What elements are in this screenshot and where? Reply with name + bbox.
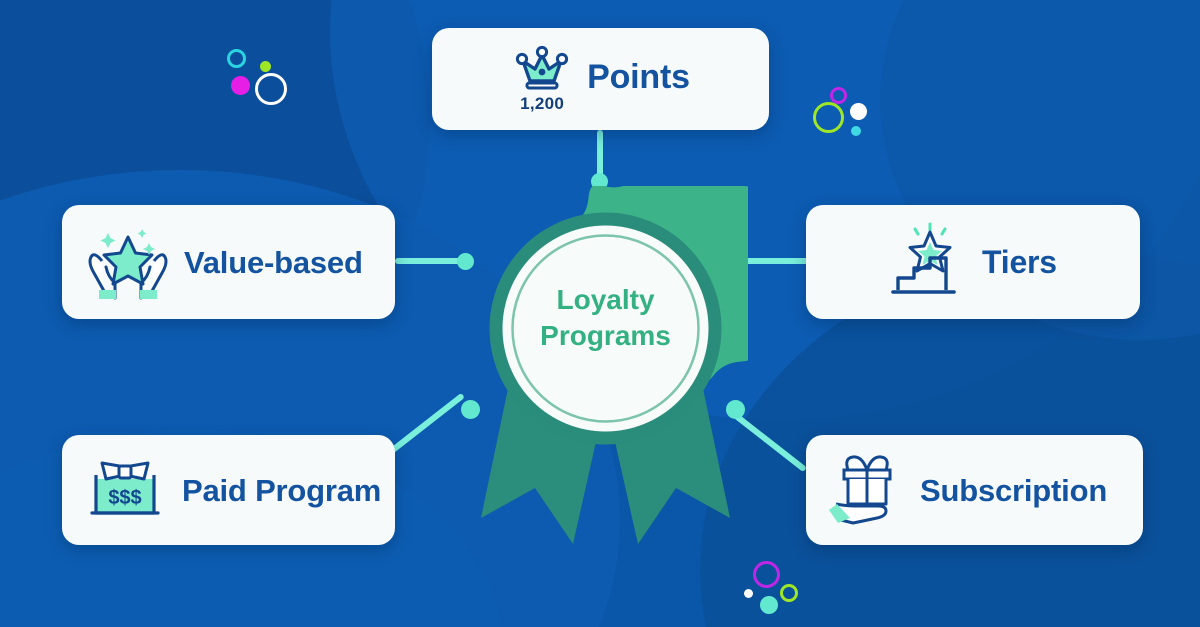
node-label-paid-program: Paid Program	[182, 475, 381, 506]
hand-gift-icon	[826, 452, 908, 528]
deco-ring-lime	[813, 102, 844, 133]
node-card-tiers[interactable]: Tiers	[806, 205, 1140, 319]
crown-icon: 1,200	[511, 41, 573, 114]
center-badge: Loyalty Programs	[463, 186, 748, 556]
deco-dot-white	[850, 103, 867, 120]
node-card-value-based[interactable]: Value-based	[62, 205, 395, 319]
deco-ring-magenta	[753, 561, 780, 588]
deco-ring-cyan	[227, 49, 246, 68]
node-card-subscription[interactable]: Subscription	[806, 435, 1143, 545]
decoration-bottom-cluster	[735, 555, 825, 620]
node-card-points[interactable]: 1,200 Points	[432, 28, 769, 130]
gift-money-icon: $$$	[86, 459, 168, 521]
deco-ring-magenta	[830, 87, 847, 104]
badge-medallion	[463, 186, 748, 471]
deco-ring-lime	[780, 584, 798, 602]
deco-dot-mint	[760, 596, 778, 614]
deco-dot-magenta	[231, 76, 250, 95]
decoration-top-right-cluster	[805, 85, 890, 150]
node-label-points: Points	[587, 60, 690, 94]
node-label-value-based: Value-based	[184, 247, 363, 278]
points-value: 1,200	[520, 94, 564, 114]
stairs-star-icon	[890, 222, 966, 302]
hands-holding-star-icon	[86, 223, 170, 301]
node-card-paid-program[interactable]: $$$ Paid Program	[62, 435, 395, 545]
deco-dot-cyan	[851, 126, 861, 136]
decoration-top-left-cluster	[215, 45, 305, 110]
deco-dot-white	[744, 589, 753, 598]
node-label-tiers: Tiers	[982, 246, 1057, 278]
diagram-canvas: Loyalty Programs 1,200 Points	[0, 0, 1200, 627]
node-label-subscription: Subscription	[920, 475, 1107, 506]
deco-ring-white	[255, 73, 287, 105]
paid-amount-text: $$$	[108, 487, 141, 509]
deco-dot-lime	[260, 61, 271, 72]
